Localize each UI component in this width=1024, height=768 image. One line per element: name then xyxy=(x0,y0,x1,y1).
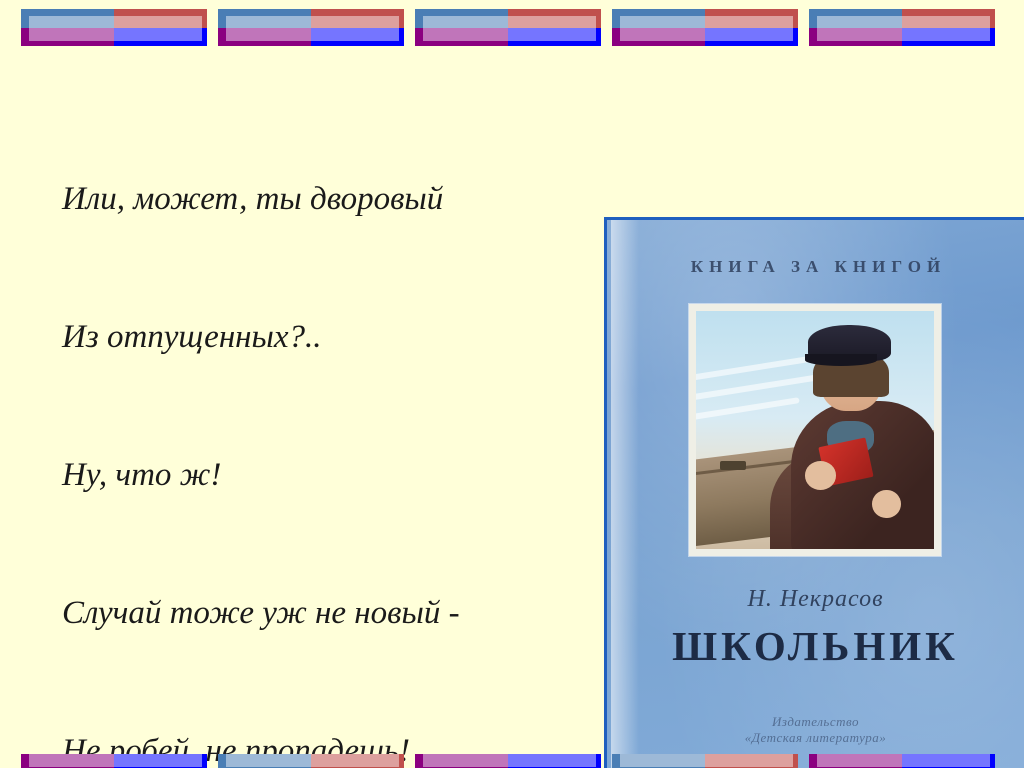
poem-line-3: Ну, что ж! xyxy=(62,452,622,498)
deco-quadrant-top-right xyxy=(508,9,601,28)
poem-text-block: Или, может, ты дворовый Из отпущенных?..… xyxy=(62,84,622,768)
book-series-label: КНИГА ЗА КНИГОЙ xyxy=(607,257,1024,277)
deco-block-top-4 xyxy=(612,9,798,46)
deco-block-bottom-2 xyxy=(218,754,404,768)
deco-quadrant-bottom-left xyxy=(612,754,705,768)
deco-block-top-2 xyxy=(218,9,404,46)
book-author-label: Н. Некрасов xyxy=(607,586,1024,613)
deco-block-top-1 xyxy=(21,9,207,46)
deco-quadrant-bottom-right xyxy=(114,28,207,47)
deco-block-bottom-4 xyxy=(612,754,798,768)
deco-quadrant-bottom-right xyxy=(705,754,798,768)
book-publisher-line-1: Издательство xyxy=(607,714,1024,730)
poem-line-2: Из отпущенных?.. xyxy=(62,314,622,360)
horizon-cart xyxy=(720,461,746,470)
deco-quadrant-top-left xyxy=(809,9,902,28)
deco-quadrant-bottom-right xyxy=(705,28,798,47)
boy-hand-left xyxy=(805,461,836,490)
deco-quadrant-top-right xyxy=(114,9,207,28)
book-publisher-block: Издательство «Детская литература» xyxy=(607,714,1024,746)
deco-quadrant-bottom-right xyxy=(311,28,404,47)
decorative-strip-top xyxy=(0,9,1024,46)
deco-quadrant-bottom-left xyxy=(218,754,311,768)
deco-quadrant-bottom-right xyxy=(902,28,995,47)
deco-quadrant-bottom-right xyxy=(508,754,601,768)
decorative-strip-bottom xyxy=(0,754,1024,768)
presentation-slide: Или, может, ты дворовый Из отпущенных?..… xyxy=(0,0,1024,768)
book-cover-left-glow xyxy=(611,220,639,768)
sky-streak-3 xyxy=(696,397,800,421)
deco-quadrant-top-left xyxy=(21,9,114,28)
book-illustration-frame xyxy=(689,304,941,556)
deco-quadrant-bottom-left xyxy=(809,28,902,47)
deco-quadrant-bottom-left xyxy=(809,754,902,768)
deco-quadrant-bottom-right xyxy=(311,754,404,768)
deco-quadrant-bottom-right xyxy=(902,754,995,768)
book-illustration xyxy=(696,311,934,549)
deco-quadrant-top-left xyxy=(415,9,508,28)
deco-quadrant-bottom-right xyxy=(114,754,207,768)
deco-block-bottom-1 xyxy=(21,754,207,768)
deco-quadrant-top-right xyxy=(705,9,798,28)
sky-streak-2 xyxy=(696,373,824,402)
deco-quadrant-top-right xyxy=(902,9,995,28)
deco-block-bottom-5 xyxy=(809,754,995,768)
deco-quadrant-bottom-right xyxy=(508,28,601,47)
deco-quadrant-bottom-left xyxy=(21,28,114,47)
deco-quadrant-top-left xyxy=(218,9,311,28)
poem-line-1: Или, может, ты дворовый xyxy=(62,176,622,222)
deco-block-bottom-3 xyxy=(415,754,601,768)
deco-block-top-3 xyxy=(415,9,601,46)
deco-quadrant-bottom-left xyxy=(218,28,311,47)
deco-quadrant-bottom-left xyxy=(415,28,508,47)
boy-cap-brim xyxy=(805,354,876,366)
deco-quadrant-bottom-left xyxy=(612,28,705,47)
poem-line-4: Случай тоже уж не новый - xyxy=(62,590,622,636)
deco-block-top-5 xyxy=(809,9,995,46)
boy-hand-right xyxy=(872,490,901,519)
deco-quadrant-top-left xyxy=(612,9,705,28)
deco-quadrant-bottom-left xyxy=(21,754,114,768)
book-cover-image: КНИГА ЗА КНИГОЙ Н xyxy=(604,217,1024,768)
book-publisher-line-2: «Детская литература» xyxy=(607,730,1024,746)
book-title-label: ШКОЛЬНИК xyxy=(607,622,1024,670)
deco-quadrant-bottom-left xyxy=(415,754,508,768)
deco-quadrant-top-right xyxy=(311,9,404,28)
